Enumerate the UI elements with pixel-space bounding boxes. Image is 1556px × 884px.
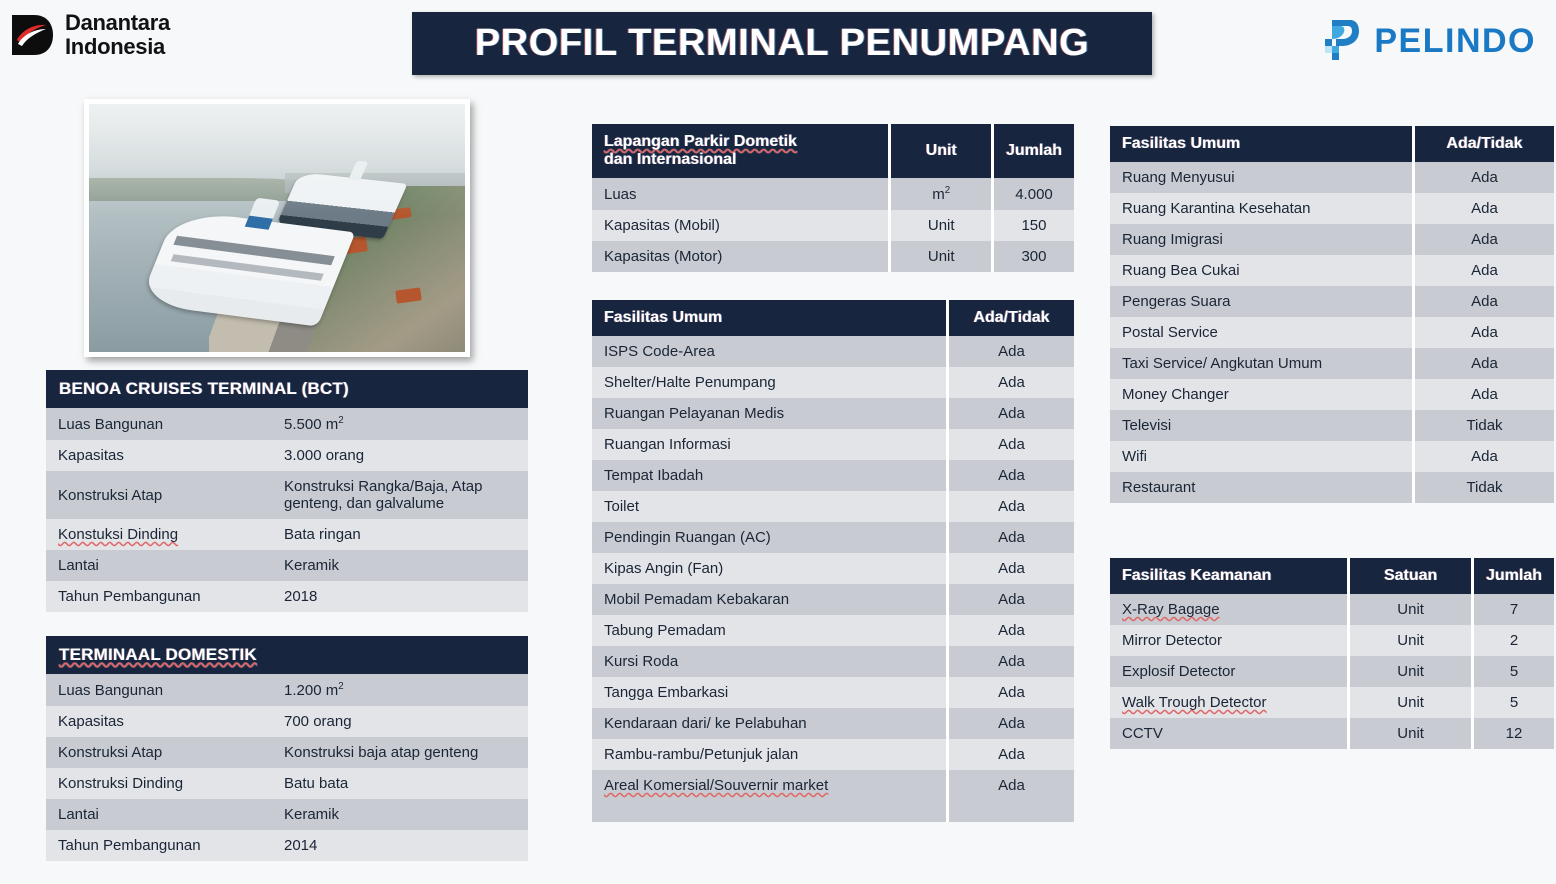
row-label: Tahun Pembangunan (46, 581, 272, 612)
row-value: Ada (1415, 224, 1554, 255)
table-lapangan-parkir: Lapangan Parkir Dometik dan Internasiona… (592, 124, 1074, 272)
terminal-photo-image (89, 104, 465, 352)
table-row: Taxi Service/ Angkutan UmumAda (1110, 348, 1554, 379)
table-row: Ruang Bea CukaiAda (1110, 255, 1554, 286)
row-value: Konstruksi baja atap genteng (272, 737, 528, 768)
row-value: 3.000 orang (272, 440, 528, 471)
table-row: Postal ServiceAda (1110, 317, 1554, 348)
col-header-unit: Unit (891, 124, 991, 178)
table-section-title-row: TERMINAAL DOMESTIK (46, 636, 528, 674)
row-label: Konstruksi Atap (46, 737, 272, 768)
table-row: X-Ray BagageUnit7 (1110, 594, 1554, 625)
row-value: Ada (1415, 193, 1554, 224)
table-row: Luas Bangunan 1.200 m2 (46, 674, 528, 706)
row-value: 5 (1474, 687, 1554, 718)
row-value: 2014 (272, 830, 528, 861)
row-value: Tidak (1415, 472, 1554, 503)
row-label: Konstruksi Dinding (46, 768, 272, 799)
row-unit: Unit (1350, 625, 1471, 656)
table-benoa-cruises-terminal: BENOA CRUISES TERMINAL (BCT) Luas Bangun… (46, 370, 528, 612)
row-value: Ada (949, 491, 1074, 522)
row-label: Rambu-rambu/Petunjuk jalan (592, 739, 946, 770)
row-label: Wifi (1110, 441, 1412, 472)
table-row: Konstuksi Dinding Bata ringan (46, 519, 528, 550)
row-label: Ruangan Informasi (592, 429, 946, 460)
table-terminal-domestik: TERMINAAL DOMESTIK Luas Bangunan 1.200 m… (46, 636, 528, 861)
row-label: Konstruksi Atap (46, 471, 272, 519)
pelindo-logo: PELINDO (1318, 16, 1536, 67)
row-label: Mirror Detector (1110, 625, 1347, 656)
row-label: Tangga Embarkasi (592, 677, 946, 708)
row-label: Kapasitas (46, 706, 272, 737)
table-header-row: Fasilitas Keamanan Satuan Jumlah (1110, 558, 1554, 594)
table-row: Kendaraan dari/ ke PelabuhanAda (592, 708, 1074, 739)
table-row: Areal Komersial/Souvernir marketAda (592, 770, 1074, 822)
row-value: Ada (949, 708, 1074, 739)
table-header-row: Fasilitas Umum Ada/Tidak (592, 300, 1074, 336)
row-value: Ada (949, 336, 1074, 367)
pelindo-wordmark: PELINDO (1374, 22, 1536, 61)
row-label: Mobil Pemadam Kebakaran (592, 584, 946, 615)
table-row: CCTVUnit12 (1110, 718, 1554, 749)
table-row: TelevisiTidak (1110, 410, 1554, 441)
table-row: ToiletAda (592, 491, 1074, 522)
row-label: Ruang Karantina Kesehatan (1110, 193, 1412, 224)
table-row: Ruang Karantina KesehatanAda (1110, 193, 1554, 224)
row-label: Kapasitas (46, 440, 272, 471)
row-label: Ruang Imigrasi (1110, 224, 1412, 255)
col-header-name: Fasilitas Umum (1110, 126, 1412, 162)
table-row: Lantai Keramik (46, 550, 528, 581)
row-value: Ada (949, 739, 1074, 770)
row-value: Bata ringan (272, 519, 528, 550)
table-row: Money ChangerAda (1110, 379, 1554, 410)
row-value: 12 (1474, 718, 1554, 749)
row-value: Ada (949, 367, 1074, 398)
row-label: Kursi Roda (592, 646, 946, 677)
row-value: Batu bata (272, 768, 528, 799)
row-value: Ada (949, 584, 1074, 615)
table-row: Mobil Pemadam KebakaranAda (592, 584, 1074, 615)
page-title-banner: PROFIL TERMINAL PENUMPANG (412, 12, 1152, 75)
row-value: Keramik (272, 550, 528, 581)
row-label: Walk Trough Detector (1110, 687, 1347, 718)
row-label: Lantai (46, 799, 272, 830)
row-value: 300 (994, 241, 1074, 272)
row-value: Ada (949, 398, 1074, 429)
table-row: Kursi RodaAda (592, 646, 1074, 677)
table-row: Konstruksi Atap Konstruksi Rangka/Baja, … (46, 471, 528, 519)
row-unit: Unit (1350, 687, 1471, 718)
row-label: CCTV (1110, 718, 1347, 749)
col-header-status: Ada/Tidak (1415, 126, 1554, 162)
row-value: Ada (949, 429, 1074, 460)
table-row: Kapasitas 700 orang (46, 706, 528, 737)
row-value: Tidak (1415, 410, 1554, 441)
table-row: Shelter/Halte PenumpangAda (592, 367, 1074, 398)
row-label: Kapasitas (Mobil) (592, 210, 888, 241)
row-label: Lantai (46, 550, 272, 581)
row-value: Ada (949, 460, 1074, 491)
col-header-name: Lapangan Parkir Dometik dan Internasiona… (592, 124, 888, 178)
table-row: Mirror DetectorUnit2 (1110, 625, 1554, 656)
table-row: ISPS Code-AreaAda (592, 336, 1074, 367)
table-row: Pendingin Ruangan (AC)Ada (592, 522, 1074, 553)
row-label: Ruang Bea Cukai (1110, 255, 1412, 286)
row-value: Ada (949, 646, 1074, 677)
row-label: Toilet (592, 491, 946, 522)
table-row: Luas m2 4.000 (592, 178, 1074, 210)
table-fasilitas-keamanan: Fasilitas Keamanan Satuan Jumlah X-Ray B… (1110, 558, 1554, 749)
col-header-name: Fasilitas Keamanan (1110, 558, 1347, 594)
danantara-wordmark: Danantara Indonesia (65, 11, 170, 59)
row-label: Kipas Angin (Fan) (592, 553, 946, 584)
row-value: Ada (1415, 379, 1554, 410)
row-label: Areal Komersial/Souvernir market (592, 770, 946, 822)
table-row: Ruang MenyusuiAda (1110, 162, 1554, 193)
row-value: Ada (949, 522, 1074, 553)
row-label: Pendingin Ruangan (AC) (592, 522, 946, 553)
row-unit: Unit (1350, 656, 1471, 687)
table-row: Kapasitas (Motor) Unit 300 (592, 241, 1074, 272)
danantara-mark-icon (8, 11, 56, 59)
table-row: Ruang ImigrasiAda (1110, 224, 1554, 255)
col-header-jumlah: Jumlah (994, 124, 1074, 178)
row-label: Taxi Service/ Angkutan Umum (1110, 348, 1412, 379)
table-row: Tempat IbadahAda (592, 460, 1074, 491)
row-value: 5 (1474, 656, 1554, 687)
row-value: 5.500 m2 (272, 408, 528, 440)
row-value: Ada (949, 770, 1074, 822)
table-row: WifiAda (1110, 441, 1554, 472)
row-value: Ada (1415, 441, 1554, 472)
row-label: Tabung Pemadam (592, 615, 946, 646)
table-fasilitas-umum-middle: Fasilitas Umum Ada/Tidak ISPS Code-AreaA… (592, 300, 1074, 822)
row-unit: Unit (891, 241, 991, 272)
col-header-name: Fasilitas Umum (592, 300, 946, 336)
table-row: RestaurantTidak (1110, 472, 1554, 503)
row-value: 2018 (272, 581, 528, 612)
table-row: Lantai Keramik (46, 799, 528, 830)
row-value: 150 (994, 210, 1074, 241)
table-row: Explosif DetectorUnit5 (1110, 656, 1554, 687)
domestik-title: TERMINAAL DOMESTIK (46, 636, 528, 674)
table-row: Luas Bangunan 5.500 m2 (46, 408, 528, 440)
row-value: Ada (949, 615, 1074, 646)
terminal-photo (84, 99, 470, 357)
photo-haze (89, 104, 465, 352)
row-label: Konstuksi Dinding (46, 519, 272, 550)
table-row: Tabung PemadamAda (592, 615, 1074, 646)
table-row: Ruangan InformasiAda (592, 429, 1074, 460)
table-fasilitas-umum-right: Fasilitas Umum Ada/Tidak Ruang MenyusuiA… (1110, 126, 1554, 503)
col-header-satuan: Satuan (1350, 558, 1471, 594)
row-value: 4.000 (994, 178, 1074, 210)
table-row: Kapasitas 3.000 orang (46, 440, 528, 471)
table-header-row: Fasilitas Umum Ada/Tidak (1110, 126, 1554, 162)
table-row: Konstruksi Atap Konstruksi baja atap gen… (46, 737, 528, 768)
row-value: 7 (1474, 594, 1554, 625)
row-value: Ada (1415, 255, 1554, 286)
table-row: Kapasitas (Mobil) Unit 150 (592, 210, 1074, 241)
row-label: Luas Bangunan (46, 674, 272, 706)
row-value: 2 (1474, 625, 1554, 656)
row-value: 700 orang (272, 706, 528, 737)
row-label: Ruang Menyusui (1110, 162, 1412, 193)
row-value: Keramik (272, 799, 528, 830)
row-unit: Unit (891, 210, 991, 241)
row-label: Tempat Ibadah (592, 460, 946, 491)
row-label: Luas (592, 178, 888, 210)
row-label: Kapasitas (Motor) (592, 241, 888, 272)
row-label: Ruangan Pelayanan Medis (592, 398, 946, 429)
row-value: Ada (1415, 286, 1554, 317)
row-value: Ada (949, 677, 1074, 708)
row-value: Ada (1415, 162, 1554, 193)
table-row: Tahun Pembangunan 2018 (46, 581, 528, 612)
row-label: Explosif Detector (1110, 656, 1347, 687)
bct-title: BENOA CRUISES TERMINAL (BCT) (46, 370, 528, 408)
row-value: Ada (949, 553, 1074, 584)
row-label: Postal Service (1110, 317, 1412, 348)
danantara-line2: Indonesia (65, 35, 170, 59)
table-section-title-row: BENOA CRUISES TERMINAL (BCT) (46, 370, 528, 408)
row-label: ISPS Code-Area (592, 336, 946, 367)
row-label: Kendaraan dari/ ke Pelabuhan (592, 708, 946, 739)
table-row: Konstruksi Dinding Batu bata (46, 768, 528, 799)
danantara-logo: Danantara Indonesia (8, 11, 170, 59)
col-header-status: Ada/Tidak (949, 300, 1074, 336)
row-label: Money Changer (1110, 379, 1412, 410)
table-row: Tahun Pembangunan 2014 (46, 830, 528, 861)
row-value: 1.200 m2 (272, 674, 528, 706)
row-unit: Unit (1350, 594, 1471, 625)
row-value: Ada (1415, 348, 1554, 379)
table-header-row: Lapangan Parkir Dometik dan Internasiona… (592, 124, 1074, 178)
row-label: Tahun Pembangunan (46, 830, 272, 861)
row-label: Restaurant (1110, 472, 1412, 503)
row-label: X-Ray Bagage (1110, 594, 1347, 625)
page-title: PROFIL TERMINAL PENUMPANG (475, 22, 1090, 65)
page-header: Danantara Indonesia PROFIL TERMINAL PENU… (0, 0, 1556, 88)
row-value: Ada (1415, 317, 1554, 348)
row-label: Luas Bangunan (46, 408, 272, 440)
row-unit: m2 (891, 178, 991, 210)
table-row: Kipas Angin (Fan)Ada (592, 553, 1074, 584)
col-header-jumlah: Jumlah (1474, 558, 1554, 594)
row-label: Televisi (1110, 410, 1412, 441)
danantara-line1: Danantara (65, 11, 170, 35)
table-row: Walk Trough DetectorUnit5 (1110, 687, 1554, 718)
table-row: Rambu-rambu/Petunjuk jalanAda (592, 739, 1074, 770)
row-value: Konstruksi Rangka/Baja, Atap genteng, da… (272, 471, 528, 519)
table-row: Tangga EmbarkasiAda (592, 677, 1074, 708)
table-row: Ruangan Pelayanan MedisAda (592, 398, 1074, 429)
pelindo-mark-icon (1318, 16, 1362, 67)
row-label: Pengeras Suara (1110, 286, 1412, 317)
row-label: Shelter/Halte Penumpang (592, 367, 946, 398)
row-unit: Unit (1350, 718, 1471, 749)
table-row: Pengeras SuaraAda (1110, 286, 1554, 317)
